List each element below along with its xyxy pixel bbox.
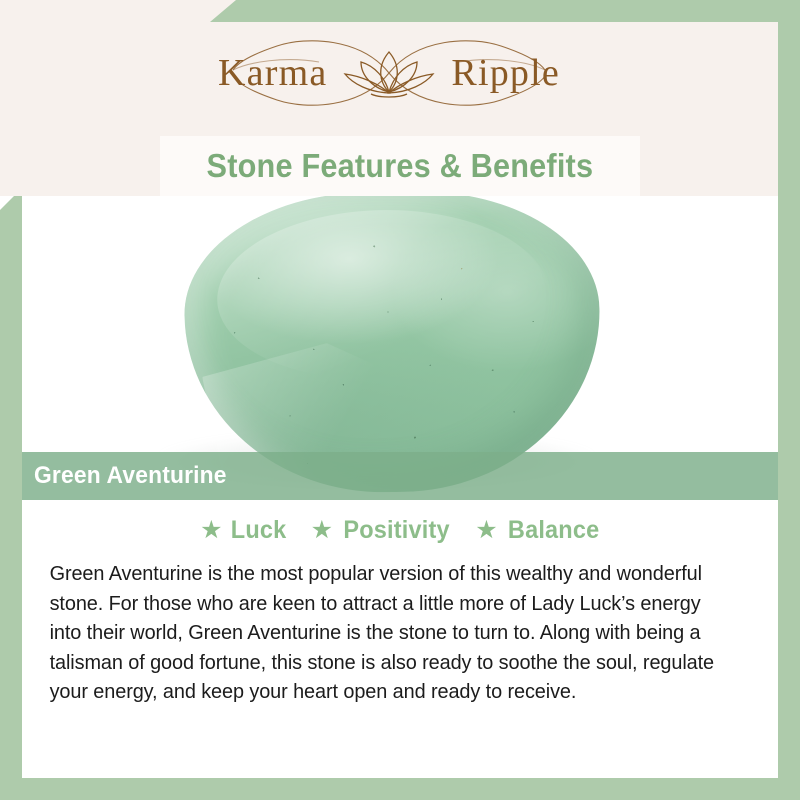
frame-accent-left bbox=[0, 196, 22, 800]
star-icon: ★ bbox=[200, 518, 222, 543]
section-title-band: Stone Features & Benefits bbox=[160, 136, 640, 196]
stone-name-label: Green Aventurine bbox=[34, 462, 227, 490]
stone-description: Green Aventurine is the most popular ver… bbox=[36, 559, 744, 707]
feature-list: ★ Luck ★ Positivity ★ Balance bbox=[36, 516, 766, 545]
star-icon: ★ bbox=[475, 518, 497, 543]
stone-details: ★ Luck ★ Positivity ★ Balance Green Aven… bbox=[22, 500, 778, 778]
frame-accent-right bbox=[778, 0, 800, 800]
star-icon: ★ bbox=[311, 518, 333, 543]
stone-name-band: Green Aventurine bbox=[22, 452, 778, 500]
feature-item-balance: ★ Balance bbox=[475, 516, 602, 545]
feature-label: Balance bbox=[508, 516, 599, 545]
brand-word-left: Karma bbox=[218, 54, 327, 92]
frame-accent-top-right bbox=[210, 0, 800, 22]
page-title: Stone Features & Benefits bbox=[207, 147, 594, 185]
feature-label: Positivity bbox=[343, 516, 449, 545]
brand-logo: Karma Ripple bbox=[0, 32, 778, 114]
frame-accent-bottom bbox=[0, 778, 800, 800]
feature-label: Luck bbox=[231, 516, 287, 545]
product-info-card: Karma Ripple Stone Features & Benefits G… bbox=[0, 0, 800, 800]
feature-item-luck: ★ Luck bbox=[200, 516, 289, 545]
brand-word-right: Ripple bbox=[451, 54, 560, 92]
feature-item-positivity: ★ Positivity bbox=[311, 516, 454, 545]
